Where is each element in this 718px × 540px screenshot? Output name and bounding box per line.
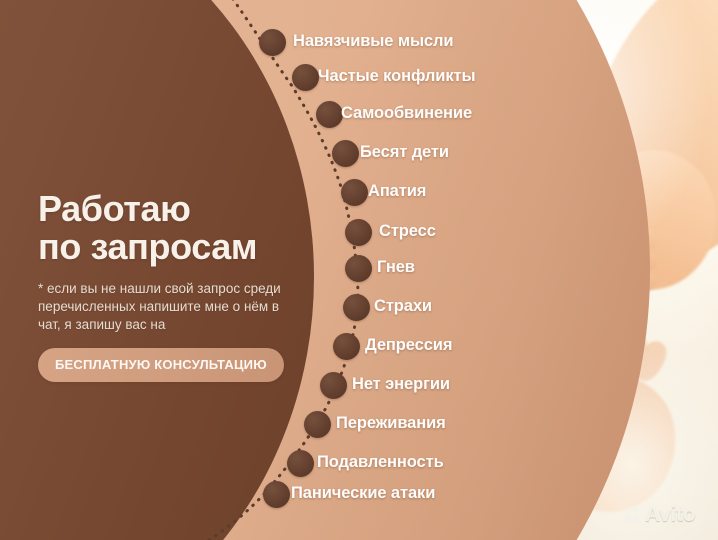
list-node — [287, 450, 314, 477]
page-title: Работаю по запросам — [38, 190, 300, 266]
list-node — [345, 219, 372, 246]
list-node — [341, 179, 368, 206]
list-item-label: Апатия — [368, 182, 426, 201]
list-item-label: Частые конфликты — [318, 67, 475, 86]
list-item-label: Страхи — [374, 297, 432, 316]
list-node — [332, 140, 359, 167]
list-item-label: Панические атаки — [291, 484, 435, 503]
headline-line-1: Работаю — [38, 188, 191, 229]
list-item-label: Подавленность — [317, 453, 444, 472]
list-node — [333, 333, 360, 360]
free-consultation-button[interactable]: БЕСПЛАТНУЮ КОНСУЛЬТАЦИЮ — [38, 348, 284, 382]
avito-watermark: Avito — [624, 503, 695, 527]
list-node — [320, 372, 347, 399]
promo-banner: Навязчивые мысли Частые конфликты Самооб… — [0, 0, 718, 540]
promo-copy-block: Работаю по запросам * если вы не нашли с… — [38, 190, 300, 382]
avito-wordmark: Avito — [645, 503, 695, 527]
list-item-label: Навязчивые мысли — [293, 32, 453, 51]
promo-subtext: * если вы не нашли свой запрос среди пер… — [38, 280, 300, 334]
headline-line-2: по запросам — [38, 228, 300, 266]
list-item-label: Гнев — [377, 258, 415, 277]
avito-dots-icon — [624, 507, 641, 524]
list-item-label: Стресс — [379, 222, 436, 241]
list-node — [263, 481, 290, 508]
list-node — [259, 29, 286, 56]
list-node — [345, 255, 372, 282]
list-item-label: Бесят дети — [360, 143, 449, 162]
list-item-label: Нет энергии — [352, 375, 450, 394]
list-node — [316, 101, 343, 128]
list-node — [292, 64, 319, 91]
list-item-label: Депрессия — [365, 336, 452, 355]
list-node — [343, 294, 370, 321]
list-node — [304, 411, 331, 438]
list-item-label: Самообвинение — [341, 104, 472, 123]
list-item-label: Переживания — [336, 414, 446, 433]
